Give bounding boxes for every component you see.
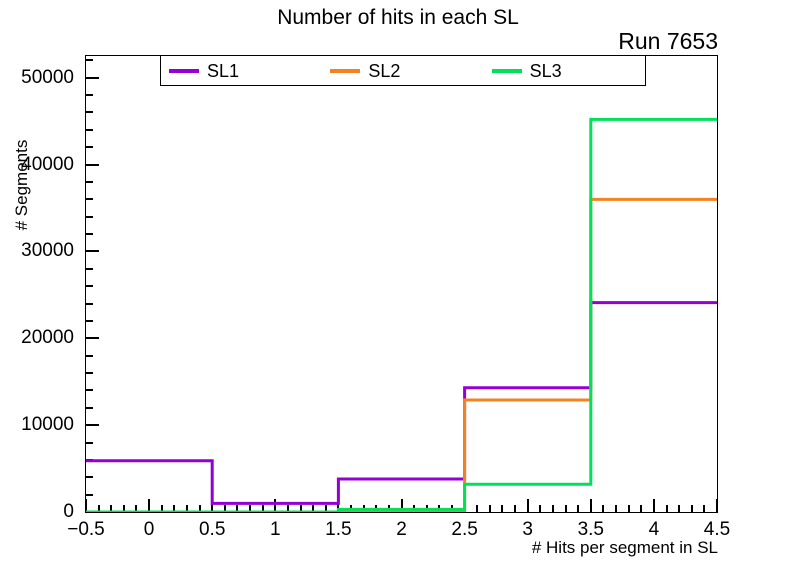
x-tick-label: 2.5 [451,519,477,541]
histogram-series-sl1 [86,303,717,504]
histogram-series-sl2 [86,199,717,512]
x-tick-label: 4 [649,519,660,541]
x-tick-label: −0.5 [67,519,105,541]
x-tick-label: 1 [270,519,281,541]
histogram-plot [86,56,717,512]
legend-entry-sl3[interactable]: SL3 [484,62,645,80]
legend-swatch-icon [169,69,199,73]
histogram-series-sl3 [86,119,717,512]
x-tick-label: 3 [522,519,533,541]
legend-entry-sl1[interactable]: SL1 [161,62,322,80]
x-tick-label: 4.5 [704,519,730,541]
legend-swatch-icon [330,69,360,73]
x-tick-label: 0.5 [199,519,225,541]
legend-swatch-icon [492,69,522,73]
legend-label: SL3 [530,62,562,80]
x-tick-label: 3.5 [578,519,604,541]
legend-label: SL1 [207,62,239,80]
histogram-series-layer [86,56,717,512]
legend: SL1SL2SL3 [160,55,646,86]
chart-canvas: Number of hits in each SL Run 7653 # Seg… [0,0,796,572]
legend-entry-sl2[interactable]: SL2 [322,62,483,80]
legend-label: SL2 [368,62,400,80]
x-tick-label: 1.5 [325,519,351,541]
x-tick-label: 0 [144,519,155,541]
x-tick-label: 2 [396,519,407,541]
